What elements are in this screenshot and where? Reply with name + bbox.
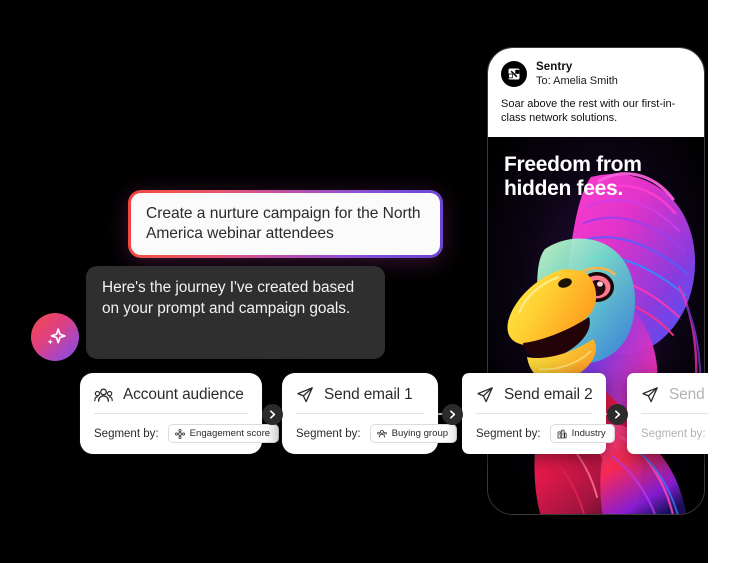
email-header: Sentry To: Amelia Smith Soar above the r…: [488, 48, 704, 137]
email-preheader: Soar above the rest with our first-in-cl…: [501, 97, 691, 126]
people-group-icon: [94, 387, 113, 404]
assistant-reply-text: Here's the journey I've created based on…: [102, 277, 368, 319]
assistant-reply-bubble: Here's the journey I've created based on…: [86, 266, 385, 359]
user-prompt-text: Create a nurture campaign for the North …: [146, 204, 425, 245]
journey-step-title: Account audience: [123, 386, 244, 404]
segment-by-label: Segment by:: [296, 428, 361, 440]
industry-building-icon: [557, 429, 567, 439]
hero-headline: Freedom from hidden fees.: [504, 153, 694, 200]
journey-connector-2: [442, 404, 463, 425]
segment-by-label: Segment by:: [641, 428, 706, 440]
user-prompt-bubble: Create a nurture campaign for the North …: [128, 190, 443, 258]
paper-plane-icon: [296, 386, 314, 404]
card-divider: [296, 413, 424, 414]
right-white-margin: [708, 0, 750, 563]
segment-by-label: Segment by:: [476, 428, 541, 440]
promo-composition: Sentry To: Amelia Smith Soar above the r…: [0, 0, 750, 563]
segment-chip-engagement-score[interactable]: Engagement score: [168, 424, 280, 443]
card-divider: [476, 413, 592, 414]
segment-chip-label: Buying group: [392, 428, 449, 439]
journey-step-title: Send email 1: [324, 386, 413, 404]
journey-step-account-audience[interactable]: Account audience Segment by: Engagement …: [80, 373, 262, 454]
segment-by-label: Segment by:: [94, 428, 159, 440]
ai-sparkle-icon: [31, 313, 79, 361]
segment-chip-label: Industry: [572, 428, 606, 439]
journey-step-send-email-1[interactable]: Send email 1 Segment by: Buying group: [282, 373, 438, 454]
buying-group-icon: [377, 429, 387, 439]
paper-plane-icon: [476, 386, 494, 404]
journey-step-title: Send email 2: [504, 386, 593, 404]
chevron-right-icon: [268, 410, 277, 419]
sentry-mark-icon: [501, 61, 527, 87]
card-divider: [94, 413, 248, 414]
segment-chip-label: Engagement score: [190, 428, 271, 439]
segment-chip-buying-group[interactable]: Buying group: [370, 424, 458, 443]
segment-chip-industry[interactable]: Industry: [550, 424, 615, 443]
paper-plane-icon: [641, 386, 659, 404]
journey-connector-3: [607, 404, 628, 425]
journey-connector-1: [262, 404, 283, 425]
sender-name: Sentry: [536, 61, 618, 75]
engagement-score-icon: [175, 429, 185, 439]
email-hero: Freedom from hidden fees.: [488, 137, 704, 515]
journey-step-send-email-2[interactable]: Send email 2 Segment by: Industry: [462, 373, 606, 454]
recipient-line: To: Amelia Smith: [536, 75, 618, 88]
chevron-right-icon: [448, 410, 457, 419]
chevron-right-icon: [613, 410, 622, 419]
email-sender-row: Sentry To: Amelia Smith: [501, 61, 691, 88]
